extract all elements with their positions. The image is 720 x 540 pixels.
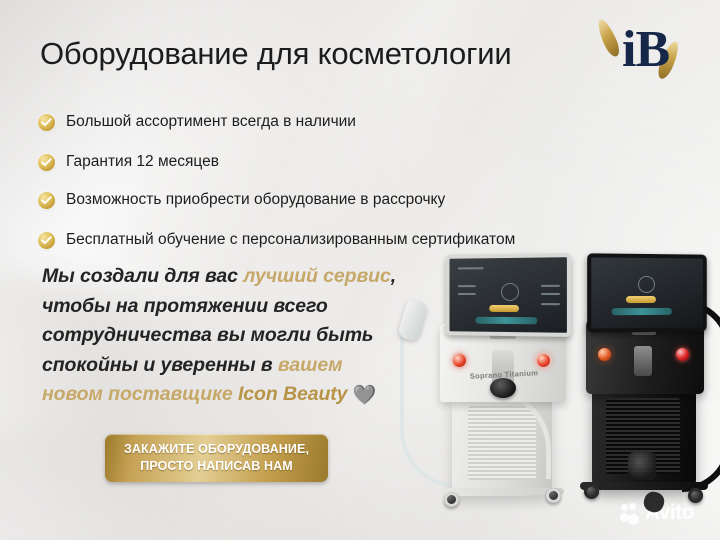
logo-monogram: iB <box>622 20 670 82</box>
control-knob <box>490 378 516 398</box>
grey-heart-icon: 🩶 <box>353 381 377 411</box>
avito-watermark: Avito <box>620 502 694 524</box>
screen-bar <box>458 267 483 269</box>
equipment-photo: Soprano Titanium <box>396 238 720 540</box>
screen-bar <box>541 293 559 295</box>
caster-wheel <box>584 484 599 499</box>
screen-dial <box>638 276 655 293</box>
check-badge-icon <box>38 192 55 209</box>
cta-line-1: ЗАКАЖИТЕ ОБОРУДОВАНИЕ, <box>105 441 328 458</box>
black-machine-tower <box>592 392 696 490</box>
indicator-lamp-right <box>537 354 550 367</box>
list-item: Большой ассортимент всегда в наличии <box>38 106 698 138</box>
indicator-lamp-right <box>676 348 689 361</box>
indicator-lamp-left <box>453 354 466 367</box>
indicator-lamp-left <box>598 348 611 361</box>
check-badge-icon <box>38 114 55 131</box>
black-machine-base <box>580 482 708 490</box>
screen-bar <box>541 303 559 305</box>
screen-accent-pill <box>489 305 519 312</box>
page-title: Оборудование для косметологии <box>40 34 511 74</box>
black-machine-screen <box>587 253 707 332</box>
screen-bar <box>458 293 475 295</box>
avito-logo-icon <box>620 502 642 524</box>
promo-paragraph: Мы создали для вас лучший сервис, чтобы … <box>42 262 402 410</box>
screen-bar <box>458 285 475 287</box>
caster-wheel <box>444 492 459 507</box>
list-item: Гарантия 12 месяцев <box>38 146 698 178</box>
screen-ui <box>454 262 561 327</box>
white-machine-screen <box>446 253 571 337</box>
check-badge-icon <box>38 232 55 249</box>
machine-seal-badge <box>628 452 656 480</box>
list-item-label: Большой ассортимент всегда в наличии <box>66 112 356 132</box>
screen-bar <box>541 285 559 287</box>
list-item-label: Гарантия 12 месяцев <box>66 152 219 172</box>
cta-line-2: ПРОСТО НАПИСАВ НАМ <box>105 458 328 475</box>
list-item: Возможность приобрести оборудование в ра… <box>38 184 698 216</box>
screen-status-bar <box>612 308 672 315</box>
paragraph-part-1: Мы создали для вас <box>42 265 243 287</box>
screen-accent-pill <box>626 296 656 303</box>
promo-banner: Оборудование для косметологии iB Большой… <box>0 0 720 540</box>
brand-name: Icon Beauty <box>238 383 347 405</box>
check-badge-icon <box>38 154 55 171</box>
handpiece-dock <box>634 346 652 376</box>
paragraph-highlight-1: лучший сервис <box>243 265 391 287</box>
brand-logo: iB <box>596 14 688 88</box>
wheat-leaf-left-icon <box>594 17 622 59</box>
list-item-label: Возможность приобрести оборудование в ра… <box>66 190 445 210</box>
screen-status-bar <box>476 317 538 325</box>
screen-dial <box>501 283 519 301</box>
order-equipment-button[interactable]: ЗАКАЖИТЕ ОБОРУДОВАНИЕ, ПРОСТО НАПИСАВ НА… <box>105 434 328 482</box>
caster-wheel <box>546 488 561 503</box>
